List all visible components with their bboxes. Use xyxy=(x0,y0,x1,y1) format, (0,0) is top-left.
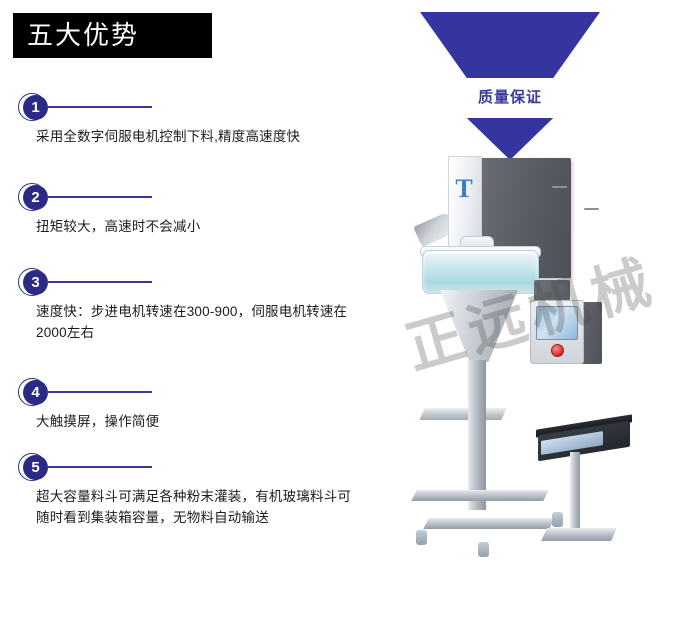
advantage-badge-row: 5 xyxy=(0,452,410,486)
scale-stand-post xyxy=(570,452,580,532)
advantage-text-2: 扭矩较大，高速时不会减小 xyxy=(36,216,386,237)
advantage-badge-row: 4 xyxy=(0,377,410,411)
quality-assurance-label: 质量保证 xyxy=(420,84,600,112)
machine-discharge-outlet xyxy=(468,360,486,400)
machine-caster-wheel xyxy=(416,530,427,545)
quality-assurance-funnel-icon: 质量保证 xyxy=(420,12,600,162)
advantage-text-4: 大触摸屏，操作简便 xyxy=(36,411,386,432)
advantage-text-5: 超大容量料斗可满足各种粉末灌装，有机玻璃料斗可 随时看到集装箱容量，无物料自动输… xyxy=(36,486,386,528)
advantage-text-1: 采用全数字伺服电机控制下料,精度高速度快 xyxy=(36,126,386,147)
advantages-panel: 五大优势 1 采用全数字伺服电机控制下料,精度高速度快 2 扭矩较大，高速时不会… xyxy=(0,0,410,622)
machine-acrylic-hopper xyxy=(422,250,539,294)
advantage-number-badge: 2 xyxy=(23,185,48,210)
advantage-text-line: 扭矩较大，高速时不会减小 xyxy=(36,216,386,237)
advantage-number-badge: 1 xyxy=(23,95,48,120)
advantage-item-3: 3 速度快：步进电机转速在300-900，伺服电机转速在 2000左右 xyxy=(0,267,410,301)
advantage-text-3: 速度快：步进电机转速在300-900，伺服电机转速在 2000左右 xyxy=(36,301,386,343)
machine-auger-cone xyxy=(440,290,518,362)
page-title: 五大优势 xyxy=(27,17,139,54)
machine-vent-slot xyxy=(552,186,567,188)
advantage-item-1: 1 采用全数字伺服电机控制下料,精度高速度快 xyxy=(0,92,410,126)
funnel-upper-shape xyxy=(420,12,600,78)
product-visual-panel: 质量保证 T 正远机械 xyxy=(410,0,690,622)
machine-vent-slot xyxy=(584,208,599,210)
advantage-item-5: 5 超大容量料斗可满足各种粉末灌装，有机玻璃料斗可 随时看到集装箱容量，无物料自… xyxy=(0,452,410,486)
advantage-rule-line xyxy=(46,391,152,393)
page-title-bar: 五大优势 xyxy=(13,13,212,58)
machine-caster-wheel xyxy=(552,512,563,527)
advantage-number-badge: 4 xyxy=(23,380,48,405)
machine-work-shelf xyxy=(419,408,506,420)
advantage-rule-line xyxy=(46,196,152,198)
advantage-number-badge: 3 xyxy=(23,270,48,295)
advantage-number-badge: 5 xyxy=(23,455,48,480)
machine-touchscreen xyxy=(536,306,578,340)
advantage-item-4: 4 大触摸屏，操作简便 xyxy=(0,377,410,411)
advantage-text-line: 大触摸屏，操作简便 xyxy=(36,411,386,432)
advantage-rule-line xyxy=(46,466,152,468)
advantage-item-2: 2 扭矩较大，高速时不会减小 xyxy=(0,182,410,216)
advantage-text-line: 随时看到集装箱容量，无物料自动输送 xyxy=(36,507,386,528)
machine-brand-logo: T xyxy=(451,174,477,204)
powder-filling-machine-photo: T 正远机械 xyxy=(410,150,690,622)
advantage-badge-row: 3 xyxy=(0,267,410,301)
advantage-text-line: 速度快：步进电机转速在300-900，伺服电机转速在 xyxy=(36,301,386,322)
advantage-rule-line xyxy=(46,106,152,108)
advantage-text-line: 超大容量料斗可满足各种粉末灌装，有机玻璃料斗可 xyxy=(36,486,386,507)
scale-stand-base xyxy=(541,528,617,541)
machine-base-bar xyxy=(423,518,554,529)
machine-base-bar xyxy=(411,490,548,501)
advantage-rule-line xyxy=(46,281,152,283)
advantage-badge-row: 2 xyxy=(0,182,410,216)
advantage-text-line: 2000左右 xyxy=(36,322,386,343)
advantage-text-line: 采用全数字伺服电机控制下料,精度高速度快 xyxy=(36,126,386,147)
machine-emergency-stop-button xyxy=(551,344,564,357)
advantage-badge-row: 1 xyxy=(0,92,410,126)
machine-caster-wheel xyxy=(478,542,489,557)
